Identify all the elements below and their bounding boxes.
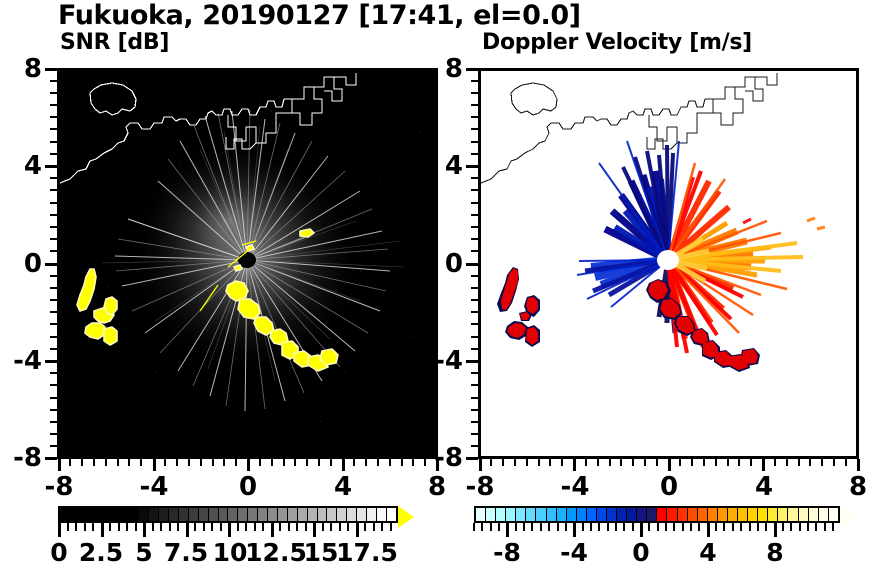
colorbar-swatch	[227, 508, 237, 521]
colorbar-swatch	[118, 508, 128, 521]
radar-figure: Fukuoka, 20190127 [17:41, el=0.0] SNR [d…	[0, 0, 870, 570]
doppler-colorbar[interactable]	[474, 506, 840, 523]
colorbar-swatch	[808, 508, 818, 521]
doppler-plot-area[interactable]	[478, 68, 859, 459]
colorbar-swatch	[485, 508, 495, 521]
colorbar-swatch	[556, 508, 566, 521]
snr-ytick-0: 0	[0, 249, 42, 279]
colorbar-swatch	[109, 508, 119, 521]
colorbar-swatch	[158, 508, 168, 521]
snr-colorbar[interactable]	[58, 506, 398, 523]
colorbar-swatch	[376, 508, 386, 521]
snr-cb-label-12p5: 12.5	[245, 538, 307, 567]
snr-xtick-n8: -8	[29, 472, 89, 502]
colorbar-swatch	[336, 508, 346, 521]
snr-cb-label-15: 15	[303, 538, 339, 567]
colorbar-swatch	[89, 508, 99, 521]
doppler-cb-label-8: 8	[747, 538, 803, 567]
colorbar-swatch	[626, 508, 636, 521]
colorbar-swatch	[356, 508, 366, 521]
colorbar-swatch	[69, 508, 79, 521]
colorbar-swatch	[636, 508, 646, 521]
snr-colorbar-extend-arrow	[398, 506, 414, 528]
colorbar-swatch	[767, 508, 777, 521]
doppler-xtick-0: 0	[639, 472, 699, 502]
doppler-ytick-n8: -8	[417, 443, 463, 473]
colorbar-swatch	[60, 508, 69, 521]
colorbar-swatch	[178, 508, 188, 521]
colorbar-swatch	[727, 508, 737, 521]
colorbar-swatch	[128, 508, 138, 521]
doppler-cb-label-0: 0	[613, 538, 669, 567]
panel-title-snr: SNR [dB]	[60, 30, 169, 55]
colorbar-swatch	[828, 508, 838, 521]
doppler-cb-label-4: 4	[680, 538, 736, 567]
snr-cb-label-17p5: 17.5	[336, 538, 398, 567]
colorbar-swatch	[257, 508, 267, 521]
colorbar-swatch	[646, 508, 656, 521]
colorbar-swatch	[505, 508, 515, 521]
colorbar-swatch	[546, 508, 556, 521]
colorbar-swatch	[566, 508, 576, 521]
colorbar-swatch	[687, 508, 697, 521]
colorbar-swatch	[757, 508, 767, 521]
colorbar-swatch	[666, 508, 676, 521]
colorbar-swatch	[346, 508, 356, 521]
snr-cb-label-5: 5	[128, 538, 160, 567]
doppler-ytick-0: 0	[417, 249, 463, 279]
snr-ytick-4: 4	[0, 151, 42, 181]
snr-ytick-n4: -4	[0, 346, 42, 376]
colorbar-swatch	[818, 508, 828, 521]
snr-canvas	[60, 71, 435, 456]
colorbar-swatch	[515, 508, 525, 521]
doppler-ytick-8: 8	[417, 54, 463, 84]
colorbar-swatch	[366, 508, 376, 521]
doppler-xtick-4: 4	[734, 472, 794, 502]
doppler-xtick-n8: -8	[450, 472, 510, 502]
colorbar-swatch	[717, 508, 727, 521]
colorbar-swatch	[386, 508, 396, 521]
colorbar-swatch	[188, 508, 198, 521]
colorbar-swatch	[535, 508, 545, 521]
colorbar-swatch	[79, 508, 89, 521]
snr-xtick-0: 0	[218, 472, 278, 502]
colorbar-swatch	[798, 508, 808, 521]
colorbar-swatch	[747, 508, 757, 521]
snr-cb-label-2p5: 2.5	[76, 538, 126, 567]
colorbar-swatch	[218, 508, 228, 521]
colorbar-swatch	[267, 508, 277, 521]
doppler-xtick-n4: -4	[545, 472, 605, 502]
figure-suptitle: Fukuoka, 20190127 [17:41, el=0.0]	[58, 0, 581, 31]
colorbar-swatch	[495, 508, 505, 521]
colorbar-swatch	[476, 508, 485, 521]
snr-cb-label-10: 10	[212, 538, 248, 567]
colorbar-swatch	[148, 508, 158, 521]
doppler-xtick-8: 8	[828, 472, 870, 502]
snr-ytick-8: 8	[0, 54, 42, 84]
doppler-ytick-4: 4	[417, 151, 463, 181]
colorbar-swatch	[777, 508, 787, 521]
colorbar-swatch	[277, 508, 287, 521]
snr-xtick-4: 4	[313, 472, 373, 502]
colorbar-swatch	[707, 508, 717, 521]
doppler-cb-label-n8: -8	[477, 538, 537, 567]
snr-xtick-n4: -4	[124, 472, 184, 502]
colorbar-swatch	[168, 508, 178, 521]
panel-title-doppler: Doppler Velocity [m/s]	[482, 30, 752, 55]
colorbar-swatch	[99, 508, 109, 521]
colorbar-swatch	[787, 508, 797, 521]
colorbar-swatch	[317, 508, 327, 521]
colorbar-swatch	[138, 508, 148, 521]
snr-cb-label-0: 0	[43, 538, 75, 567]
doppler-colorbar-extend-arrow-max	[840, 506, 856, 528]
colorbar-swatch	[677, 508, 687, 521]
snr-plot-area[interactable]	[57, 68, 438, 459]
colorbar-swatch	[297, 508, 307, 521]
colorbar-swatch	[576, 508, 586, 521]
colorbar-swatch	[596, 508, 606, 521]
colorbar-swatch	[697, 508, 707, 521]
snr-cb-label-7p5: 7.5	[161, 538, 211, 567]
doppler-cb-label-n4: -4	[544, 538, 604, 567]
colorbar-swatch	[586, 508, 596, 521]
colorbar-swatch	[287, 508, 297, 521]
colorbar-swatch	[656, 508, 666, 521]
colorbar-swatch	[307, 508, 317, 521]
colorbar-swatch	[737, 508, 747, 521]
colorbar-swatch	[525, 508, 535, 521]
snr-ytick-n8: -8	[0, 443, 42, 473]
colorbar-swatch	[208, 508, 218, 521]
doppler-canvas	[481, 71, 856, 456]
colorbar-swatch	[247, 508, 257, 521]
colorbar-swatch	[616, 508, 626, 521]
doppler-ytick-n4: -4	[417, 346, 463, 376]
colorbar-swatch	[198, 508, 208, 521]
colorbar-swatch	[606, 508, 616, 521]
colorbar-swatch	[237, 508, 247, 521]
doppler-colorbar-extend-arrow-min	[458, 506, 474, 528]
colorbar-swatch	[326, 508, 336, 521]
